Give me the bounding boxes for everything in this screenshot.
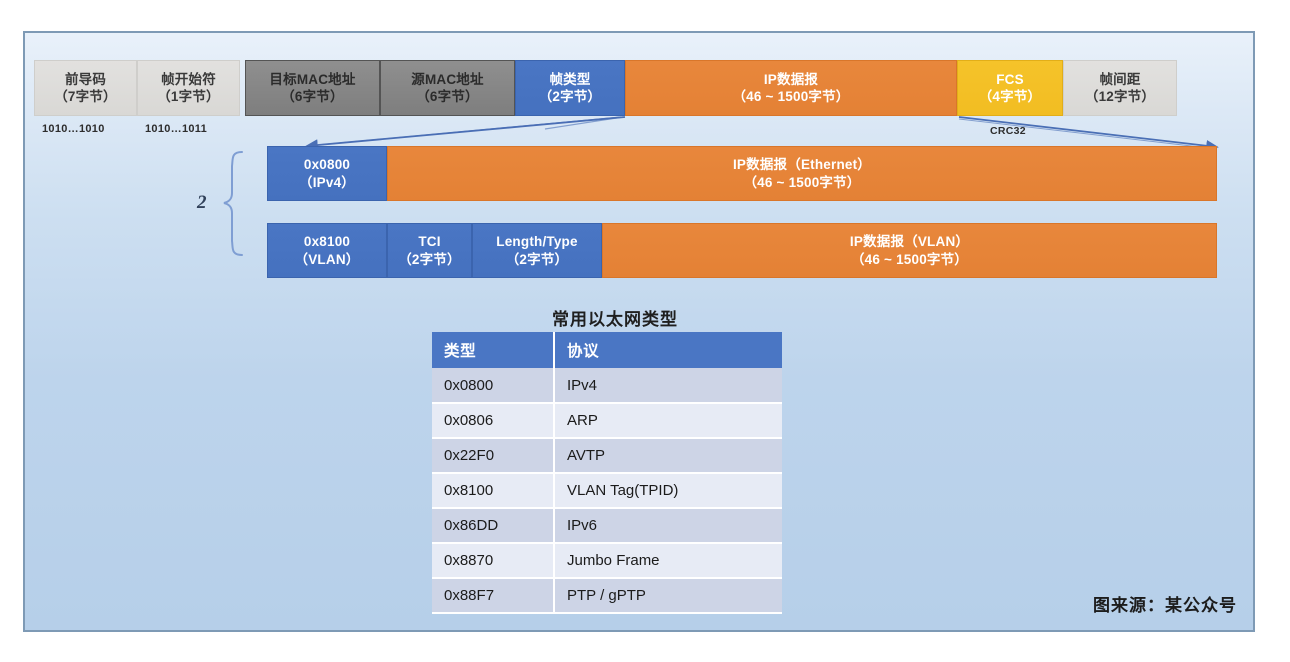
- table-cell-protocol: IPv4: [554, 368, 782, 403]
- frame-field-ifg-line2: （12字节）: [1085, 88, 1155, 105]
- sfd-bit-pattern: 1010…1011: [145, 123, 207, 135]
- frame-field-ip-datagram-line1: IP数据报: [764, 71, 818, 88]
- frame-field-ifg: 帧间距 （12字节）: [1063, 60, 1177, 116]
- frame-field-dest-mac: 目标MAC地址 （6字节）: [245, 60, 380, 116]
- preamble-bit-pattern: 1010…1010: [42, 123, 105, 135]
- frame-field-ifg-line1: 帧间距: [1099, 71, 1140, 88]
- table-cell-protocol: PTP / gPTP: [554, 578, 782, 613]
- table-cell-type: 0x0806: [432, 403, 554, 438]
- table-cell-type: 0x22F0: [432, 438, 554, 473]
- frame-field-src-mac: 源MAC地址 （6字节）: [380, 60, 515, 116]
- table-cell-type: 0x0800: [432, 368, 554, 403]
- tci-field-line2: （2字节）: [398, 251, 461, 268]
- ethertype-0x0800-line1: 0x0800: [304, 156, 350, 173]
- table-cell-type: 0x88F7: [432, 578, 554, 613]
- table-row: 0x0806ARP: [432, 403, 782, 438]
- table-row: 0x8870Jumbo Frame: [432, 543, 782, 578]
- length-type-field-line1: Length/Type: [496, 233, 577, 250]
- frame-field-fcs-line2: （4字节）: [979, 88, 1042, 105]
- ip-datagram-vlan-line1: IP数据报（VLAN）: [850, 233, 969, 250]
- frame-field-ip-datagram-line2: （46 ~ 1500字节）: [732, 88, 849, 105]
- frame-field-src-mac-line1: 源MAC地址: [411, 71, 483, 88]
- table-cell-type: 0x8100: [432, 473, 554, 508]
- group-count-label: 2: [197, 192, 207, 214]
- frame-field-frame-type-line2: （2字节）: [539, 88, 602, 105]
- table-row: 0x0800IPv4: [432, 368, 782, 403]
- table-cell-protocol: ARP: [554, 403, 782, 438]
- tci-field-box: TCI （2字节）: [387, 223, 472, 278]
- table-row: 0x22F0AVTP: [432, 438, 782, 473]
- table-title: 常用以太网类型: [435, 305, 795, 330]
- table-cell-protocol: Jumbo Frame: [554, 543, 782, 578]
- frame-field-sfd-line1: 帧开始符: [161, 71, 216, 88]
- table-header-proto: 协议: [554, 332, 782, 368]
- ip-datagram-ethernet-box: IP数据报（Ethernet） （46 ~ 1500字节）: [387, 146, 1217, 201]
- ethertype-0x8100-line2: （VLAN）: [295, 251, 360, 268]
- table-cell-type: 0x86DD: [432, 508, 554, 543]
- ip-datagram-ethernet-line1: IP数据报（Ethernet）: [733, 156, 871, 173]
- table-header-row: 类型 协议: [432, 332, 782, 368]
- source-credit: 图来源：某公众号: [1093, 591, 1237, 616]
- frame-field-fcs-line1: FCS: [996, 71, 1024, 88]
- ethernet-type-table: 类型 协议 0x0800IPv40x0806ARP0x22F0AVTP0x810…: [432, 332, 782, 614]
- frame-field-preamble-line2: （7字节）: [54, 88, 117, 105]
- table-header-type: 类型: [432, 332, 554, 368]
- frame-field-src-mac-line2: （6字节）: [416, 88, 479, 105]
- ip-datagram-vlan-box: IP数据报（VLAN） （46 ~ 1500字节）: [602, 223, 1217, 278]
- frame-field-frame-type: 帧类型 （2字节）: [515, 60, 625, 116]
- table-cell-type: 0x8870: [432, 543, 554, 578]
- ip-datagram-ethernet-line2: （46 ~ 1500字节）: [743, 174, 860, 191]
- frame-field-sfd-line2: （1字节）: [157, 88, 220, 105]
- ip-datagram-vlan-line2: （46 ~ 1500字节）: [851, 251, 968, 268]
- ethertype-0x0800-line2: （IPv4）: [299, 174, 355, 191]
- frame-field-sfd: 帧开始符 （1字节）: [137, 60, 240, 116]
- table-cell-protocol: VLAN Tag(TPID): [554, 473, 782, 508]
- table-cell-protocol: AVTP: [554, 438, 782, 473]
- frame-field-preamble-line1: 前导码: [65, 71, 106, 88]
- length-type-field-line2: （2字节）: [506, 251, 569, 268]
- frame-field-preamble: 前导码 （7字节）: [34, 60, 137, 116]
- tci-field-line1: TCI: [418, 233, 440, 250]
- table-row: 0x86DDIPv6: [432, 508, 782, 543]
- frame-field-dest-mac-line2: （6字节）: [281, 88, 344, 105]
- frame-field-frame-type-line1: 帧类型: [549, 71, 590, 88]
- frame-field-fcs: FCS （4字节）: [957, 60, 1063, 116]
- diagram-slide: 前导码 （7字节） 帧开始符 （1字节） 目标MAC地址 （6字节） 源MAC地…: [23, 31, 1255, 632]
- frame-field-ip-datagram: IP数据报 （46 ~ 1500字节）: [625, 60, 957, 116]
- table-body: 0x0800IPv40x0806ARP0x22F0AVTP0x8100VLAN …: [432, 368, 782, 613]
- frame-field-dest-mac-line1: 目标MAC地址: [269, 71, 355, 88]
- length-type-field-box: Length/Type （2字节）: [472, 223, 602, 278]
- ethertype-0x0800-box: 0x0800 （IPv4）: [267, 146, 387, 201]
- crc32-label: CRC32: [990, 125, 1026, 137]
- table-row: 0x88F7PTP / gPTP: [432, 578, 782, 613]
- ethertype-0x8100-line1: 0x8100: [304, 233, 350, 250]
- ethertype-0x8100-box: 0x8100 （VLAN）: [267, 223, 387, 278]
- table-cell-protocol: IPv6: [554, 508, 782, 543]
- table-row: 0x8100VLAN Tag(TPID): [432, 473, 782, 508]
